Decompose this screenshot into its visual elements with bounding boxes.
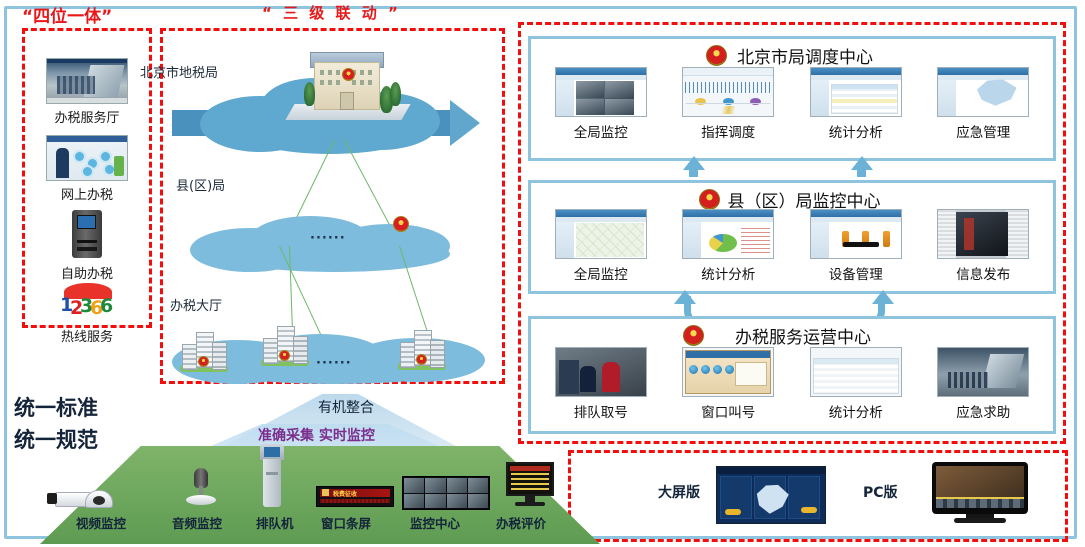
panel-title: 北京市局调度中心 xyxy=(531,43,1053,68)
card-label: 设备管理 xyxy=(792,263,920,283)
card-emergency-help[interactable]: 应急求助 xyxy=(920,347,1048,421)
evaluation-monitor-icon xyxy=(506,462,556,508)
device-label: 音频监控 xyxy=(172,513,222,532)
command-dispatch-screenshot xyxy=(682,67,774,117)
government-building-icon xyxy=(290,48,406,124)
card-queue-ticket[interactable]: 排队取号 xyxy=(537,347,665,421)
window-calling-screenshot xyxy=(682,347,774,397)
pc-version-label: PC版 xyxy=(863,482,898,502)
card-statistics-analysis[interactable]: 统计分析 xyxy=(792,67,920,141)
card-statistics-analysis[interactable]: 统计分析 xyxy=(792,347,920,421)
video-wall-icon xyxy=(402,472,492,512)
header-three-level-linkage: “ 三 级 联 动 ” xyxy=(262,2,401,23)
flow-arrow-up xyxy=(683,156,705,170)
panel-title: 办税服务运营中心 xyxy=(531,323,1053,348)
flow-arrow-head xyxy=(450,100,480,146)
card-information-release[interactable]: 信息发布 xyxy=(920,209,1048,283)
card-label: 应急管理 xyxy=(920,121,1048,141)
pc-tv-monitor-icon xyxy=(932,462,1028,524)
card-device-management[interactable]: 设备管理 xyxy=(792,209,920,283)
device-management-screenshot xyxy=(810,209,902,259)
tax-hall-building-icon xyxy=(263,326,309,368)
ellipsis-bottom: ······ xyxy=(316,356,352,371)
statistics-table-screenshot xyxy=(810,347,902,397)
queue-kiosk-icon xyxy=(258,444,288,508)
statistics-analysis-screenshot xyxy=(810,67,902,117)
card-label: 全局监控 xyxy=(537,121,665,141)
sidebar-item-label: 热线服务 xyxy=(24,326,150,345)
hotline-12366-logo-icon: 123 66 xyxy=(46,283,128,323)
level2-label: 县(区)局 xyxy=(176,175,225,194)
sidebar-item-self-service[interactable]: 自助办税 xyxy=(24,208,150,282)
queue-ticket-photo xyxy=(555,347,647,397)
device-label: 视频监控 xyxy=(76,513,126,532)
sidebar-item-label: 网上办税 xyxy=(24,184,150,203)
sidebar-item-online-tax[interactable]: 网上办税 xyxy=(24,135,150,203)
level3-label: 办税大厅 xyxy=(170,295,222,314)
device-label: 办税评价 xyxy=(496,513,546,532)
sidebar-item-tax-hall[interactable]: 办税服务厅 xyxy=(24,58,150,126)
integration-label: 有机整合 xyxy=(318,397,374,417)
card-label: 信息发布 xyxy=(920,263,1048,283)
card-label: 应急求助 xyxy=(920,401,1048,421)
tax-service-hall-photo-icon xyxy=(46,58,128,104)
led-text: 税费征收 xyxy=(333,489,357,498)
card-label: 排队取号 xyxy=(537,401,665,421)
panel-tax-service-operation-center[interactable]: 办税服务运营中心 排队取号 窗口叫号 xyxy=(528,316,1056,434)
led-strip-screen-icon: 税费征收 xyxy=(316,478,394,508)
ellipsis-middle: ······ xyxy=(310,231,346,246)
sidebar-item-label: 办税服务厅 xyxy=(24,107,150,126)
emergency-help-photo xyxy=(937,347,1029,397)
self-service-kiosk-icon xyxy=(46,208,128,260)
flow-arrow-up xyxy=(851,156,873,170)
tax-hall-building-icon xyxy=(400,330,446,372)
level1-label: 北京市地税局 xyxy=(140,62,218,81)
emergency-management-screenshot xyxy=(937,67,1029,117)
card-label: 统计分析 xyxy=(792,121,920,141)
card-global-monitoring[interactable]: 全局监控 xyxy=(537,209,665,283)
card-statistics-analysis[interactable]: 统计分析 xyxy=(665,209,793,283)
device-label: 监控中心 xyxy=(410,513,460,532)
sidebar-item-label: 自助办税 xyxy=(24,263,150,282)
global-monitoring-screenshot xyxy=(555,67,647,117)
flow-arrow-up xyxy=(674,290,696,304)
big-screen-dashboard-icon xyxy=(716,466,826,524)
video-camera-icon xyxy=(55,478,115,508)
flow-arrow-up xyxy=(872,290,894,304)
device-label: 窗口条屏 xyxy=(321,513,371,532)
card-label: 指挥调度 xyxy=(665,121,793,141)
card-emergency-management[interactable]: 应急管理 xyxy=(920,67,1048,141)
card-label: 窗口叫号 xyxy=(665,401,793,421)
national-emblem-icon xyxy=(393,216,409,232)
sidebar-item-hotline[interactable]: 123 66 热线服务 xyxy=(24,283,150,345)
card-global-monitoring[interactable]: 全局监控 xyxy=(537,67,665,141)
pie-chart-screenshot xyxy=(682,209,774,259)
information-release-screenshot xyxy=(937,209,1029,259)
map-monitoring-screenshot xyxy=(555,209,647,259)
slogan-label: 准确采集 实时监控 xyxy=(258,425,375,445)
device-label: 排队机 xyxy=(256,513,294,532)
online-tax-screen-icon xyxy=(46,135,128,181)
card-label: 统计分析 xyxy=(665,263,793,283)
panel-district-monitoring-center[interactable]: 县（区）局监控中心 全局监控 统计分析 xyxy=(528,180,1056,294)
card-window-calling[interactable]: 窗口叫号 xyxy=(665,347,793,421)
header-four-in-one: “四位一体” xyxy=(22,2,112,27)
panel-city-dispatch-center[interactable]: 北京市局调度中心 全局监控 指挥调度 xyxy=(528,36,1056,161)
card-label: 统计分析 xyxy=(792,401,920,421)
national-emblem-icon xyxy=(342,68,355,81)
card-label: 全局监控 xyxy=(537,263,665,283)
big-screen-version-label: 大屏版 xyxy=(658,482,700,502)
card-command-dispatch[interactable]: 指挥调度 xyxy=(665,67,793,141)
tax-hall-building-icon xyxy=(182,332,228,374)
microphone-icon xyxy=(186,468,220,508)
